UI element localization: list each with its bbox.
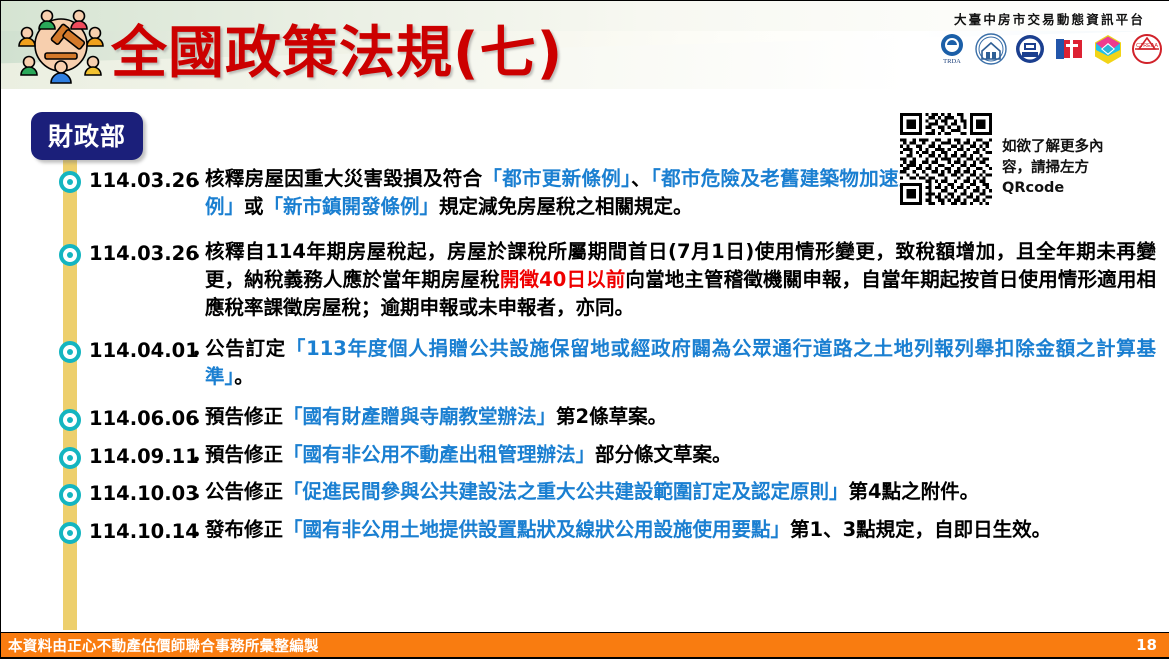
svg-text:TRDA: TRDA (943, 58, 961, 65)
policy-text-segment: 公告訂定 (205, 337, 286, 360)
partner-logo-row: TRDA (935, 31, 1164, 67)
qr-caption: 如欲了解更多內容，請掃左方QRcode (1002, 113, 1114, 199)
people-gavel-icon (13, 5, 109, 87)
policy-item-text: 公告訂定「113年度個人捐贈公共設施保留地或經政府闢為公眾通行道路之土地列報列舉… (205, 335, 1156, 390)
agency-badge: 財政部 (31, 112, 143, 160)
policy-text-segment: 「國有非公用不動產出租管理辦法」 (283, 443, 595, 466)
policy-item-text: 公告修正「促進民間參與公共建設法之重大公共建設範圍訂定及認定原則」第4點之附件。 (205, 478, 979, 506)
timeline-marker-icon (59, 244, 81, 266)
policy-text-segment: 第4點之附件。 (849, 480, 980, 503)
policy-item-bullet: ・ (187, 407, 206, 434)
footer-credit: 本資料由正心不動產估價師聯合事務所彙整編製 (1, 635, 319, 656)
platform-brand: 大臺中房市交易動態資訊平台 TRDA (935, 9, 1164, 67)
policy-text-segment: 。 (234, 365, 254, 388)
policy-item: 114.10.14・發布修正「國有非公用土地提供設置點狀及線狀公用設施使用要點」… (1, 516, 1169, 544)
policy-item: 114.10.03・公告修正「促進民間參與公共建設法之重大公共建設範圍訂定及認定… (1, 478, 1169, 506)
policy-item-bullet: ・ (187, 520, 206, 547)
policy-item-bullet: ・ (187, 445, 206, 472)
policy-item: 114.04.01・公告訂定「113年度個人捐贈公共設施保留地或經政府闢為公眾通… (1, 335, 1169, 390)
policy-text-segment: 預告修正 (205, 405, 283, 428)
policy-item: 114.06.06・預告修正「國有財產贈與寺廟教堂辦法」第2條草案。 (1, 403, 1169, 431)
policy-item-text: 預告修正「國有非公用不動產出租管理辦法」部分條文草案。 (205, 441, 732, 469)
policy-text-segment: 核釋房屋因重大災害毀損及符合 (205, 167, 482, 190)
blue-seal-logo (1013, 32, 1047, 66)
policy-text-segment: 公告修正 (205, 480, 283, 503)
svg-text:CTREAA: CTREAA (1136, 43, 1158, 49)
policy-text-segment: 部分條文草案。 (595, 443, 732, 466)
page-title: 全國政策法規(七) (111, 8, 563, 89)
policy-item-bullet: ・ (187, 339, 206, 366)
slide-body: 財政部 (1, 89, 1169, 632)
zhong-flag-logo (1052, 32, 1086, 66)
policy-item-date: 114.04.01 (89, 339, 199, 362)
house-emblem-logo (974, 32, 1008, 66)
policy-item-date: 114.03.26 (89, 242, 199, 265)
policy-item-bullet: ・ (187, 242, 206, 269)
colorful-hexagon-logo (1091, 32, 1125, 66)
policy-text-segment: 「促進民間參與公共建設法之重大公共建設範圍訂定及認定原則」 (283, 480, 849, 503)
policy-item-date: 114.06.06 (89, 407, 199, 430)
policy-item: 114.03.26・核釋自114年期房屋稅起，房屋於課稅所屬期間首日(7月1日)… (1, 238, 1169, 321)
policy-item: 114.09.11・預告修正「國有非公用不動產出租管理辦法」部分條文草案。 (1, 441, 1169, 469)
timeline-marker-icon (59, 409, 81, 431)
policy-item-text: 發布修正「國有非公用土地提供設置點狀及線狀公用設施使用要點」第1、3點規定，自即… (205, 516, 1051, 544)
policy-item-list: 114.03.26・核釋房屋因重大災害毀損及符合「都市更新條例」、「都市危險及老… (1, 165, 1169, 554)
policy-item-text: 核釋自114年期房屋稅起，房屋於課稅所屬期間首日(7月1日)使用情形變更，致稅額… (205, 238, 1156, 321)
policy-text-segment: 、 (631, 167, 651, 190)
page-number: 18 (1136, 636, 1169, 654)
page-footer: 本資料由正心不動產估價師聯合事務所彙整編製 18 (1, 632, 1169, 658)
policy-item-date: 114.03.26 (89, 169, 199, 192)
policy-text-segment: 第1、3點規定，自即日生效。 (790, 518, 1051, 541)
policy-text-segment: 「113年度個人捐贈公共設施保留地或經政府闢為公眾通行道路之土地列報列舉扣除金額… (205, 337, 1156, 388)
policy-item-date: 114.10.14 (89, 520, 199, 543)
policy-item-text: 核釋房屋因重大災害毀損及符合「都市更新條例」、「都市危險及老舊建築物加速重建條例… (205, 165, 958, 220)
timeline-marker-icon (59, 447, 81, 469)
timeline-marker-icon (59, 484, 81, 506)
page-header: 全國政策法規(七) 大臺中房市交易動態資訊平台 TRDA (1, 1, 1169, 89)
ctreaa-logo: CTREAA (1130, 32, 1164, 66)
policy-item-date: 114.09.11 (89, 445, 199, 468)
trda-logo: TRDA (935, 32, 969, 66)
platform-brand-title: 大臺中房市交易動態資訊平台 (935, 9, 1164, 28)
timeline-bar (63, 147, 77, 630)
policy-text-segment: 「都市更新條例」 (482, 167, 631, 190)
policy-text-segment: 「國有財產贈與寺廟教堂辦法」 (283, 405, 556, 428)
qr-code-icon (900, 113, 992, 205)
policy-text-segment: 預告修正 (205, 443, 283, 466)
policy-text-segment: 或 (244, 195, 264, 218)
policy-item-text: 預告修正「國有財產贈與寺廟教堂辦法」第2條草案。 (205, 403, 667, 431)
policy-item-bullet: ・ (187, 482, 206, 509)
timeline-marker-icon (59, 341, 81, 363)
policy-text-segment: 開徵40日以前 (500, 268, 626, 291)
policy-item-bullet: ・ (187, 169, 206, 196)
policy-text-segment: 第2條草案。 (556, 405, 667, 428)
policy-item-date: 114.10.03 (89, 482, 199, 505)
policy-text-segment: 發布修正 (205, 518, 283, 541)
qr-block: 如欲了解更多內容，請掃左方QRcode (900, 113, 1162, 213)
policy-text-segment: 規定減免房屋稅之相關規定。 (439, 195, 693, 218)
timeline-marker-icon (59, 522, 81, 544)
timeline-marker-icon (59, 171, 81, 193)
policy-text-segment: 「新市鎮開發條例」 (264, 195, 440, 218)
policy-text-segment: 「國有非公用土地提供設置點狀及線狀公用設施使用要點」 (283, 518, 790, 541)
